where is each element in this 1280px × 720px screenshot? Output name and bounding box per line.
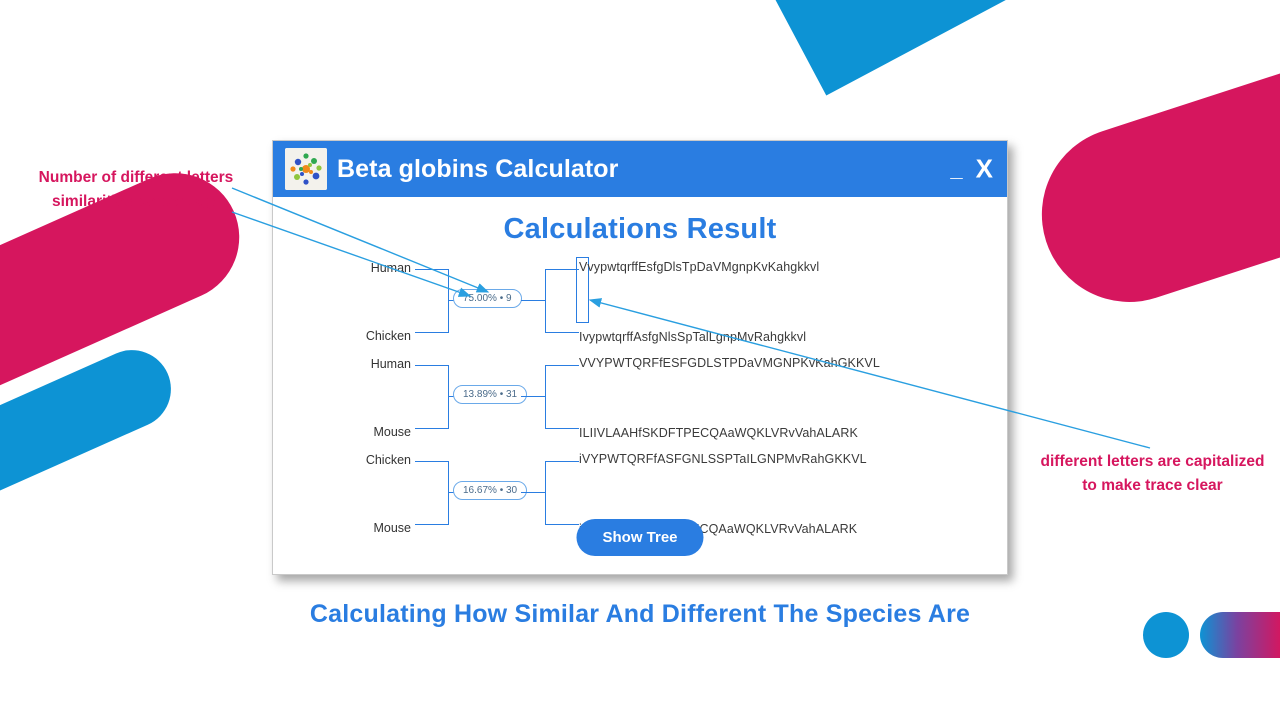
sequence-b: IvypwtqrffAsfgNlsSpTalLgnpMvRahgkkvl (579, 330, 806, 344)
sequence-a: VVYPWTQRFfESFGDLSTPDaVMGNPKvKahGKKVL (579, 356, 880, 370)
protein-molecule-icon (285, 148, 327, 190)
page-title: Calculations Result (273, 213, 1007, 246)
connector-right (521, 492, 545, 493)
species-label-b: Mouse (325, 425, 411, 439)
decorative-pink-ribbon-right (1019, 56, 1280, 324)
minimize-button[interactable]: _ (950, 164, 962, 174)
similarity-badge[interactable]: 16.67% • 30 (453, 481, 527, 500)
window-controls: _ X (950, 154, 993, 185)
bracket-right (545, 461, 579, 525)
sequence-a: VvypwtqrffEsfgDlsTpDaVMgnpKvKahgkkvl (579, 260, 819, 274)
annotation-right: different letters are capitalized to mak… (1035, 450, 1270, 498)
bracket-left (415, 461, 449, 525)
annotation-left-line1: Number of different letters (16, 166, 256, 190)
show-tree-button[interactable]: Show Tree (576, 519, 703, 556)
slide-caption: Calculating How Similar And Different Th… (0, 600, 1280, 629)
comparison-list: Human Chicken 75.00% • 9 VvypwtqrffEsfgD… (273, 264, 1007, 532)
species-label-b: Mouse (325, 521, 411, 535)
similarity-badge[interactable]: 75.00% • 9 (453, 289, 522, 308)
comparison-row: Human Mouse 13.89% • 31 VVYPWTQRFfESFGDL… (273, 360, 1007, 436)
bracket-right (545, 365, 579, 429)
sequence-a: iVYPWTQRFfASFGNLSSPTaILGNPMvRahGKKVL (579, 452, 867, 466)
connector-right (521, 300, 545, 301)
bracket-left (415, 269, 449, 333)
bracket-left (415, 365, 449, 429)
title-bar: Beta globins Calculator _ X (273, 141, 1007, 197)
annotation-left-line2: similarities percentage (16, 190, 256, 214)
annotation-left: Number of different letters similarities… (16, 166, 256, 214)
species-label-a: Chicken (325, 453, 411, 467)
species-label-b: Chicken (325, 329, 411, 343)
close-button[interactable]: X (976, 154, 993, 185)
application-window: Beta globins Calculator _ X Calculations… (272, 140, 1008, 575)
species-label-a: Human (325, 261, 411, 275)
sequence-b: ILIIVLAAHfSKDFTPECQAaWQKLVRvVahALARK (579, 426, 858, 440)
window-title: Beta globins Calculator (337, 155, 619, 184)
connector-right (521, 396, 545, 397)
similarity-badge[interactable]: 13.89% • 31 (453, 385, 527, 404)
decorative-blue-ribbon-top (774, 0, 1242, 95)
species-label-a: Human (325, 357, 411, 371)
bracket-right (545, 269, 579, 333)
comparison-row: Human Chicken 75.00% • 9 VvypwtqrffEsfgD… (273, 264, 1007, 340)
